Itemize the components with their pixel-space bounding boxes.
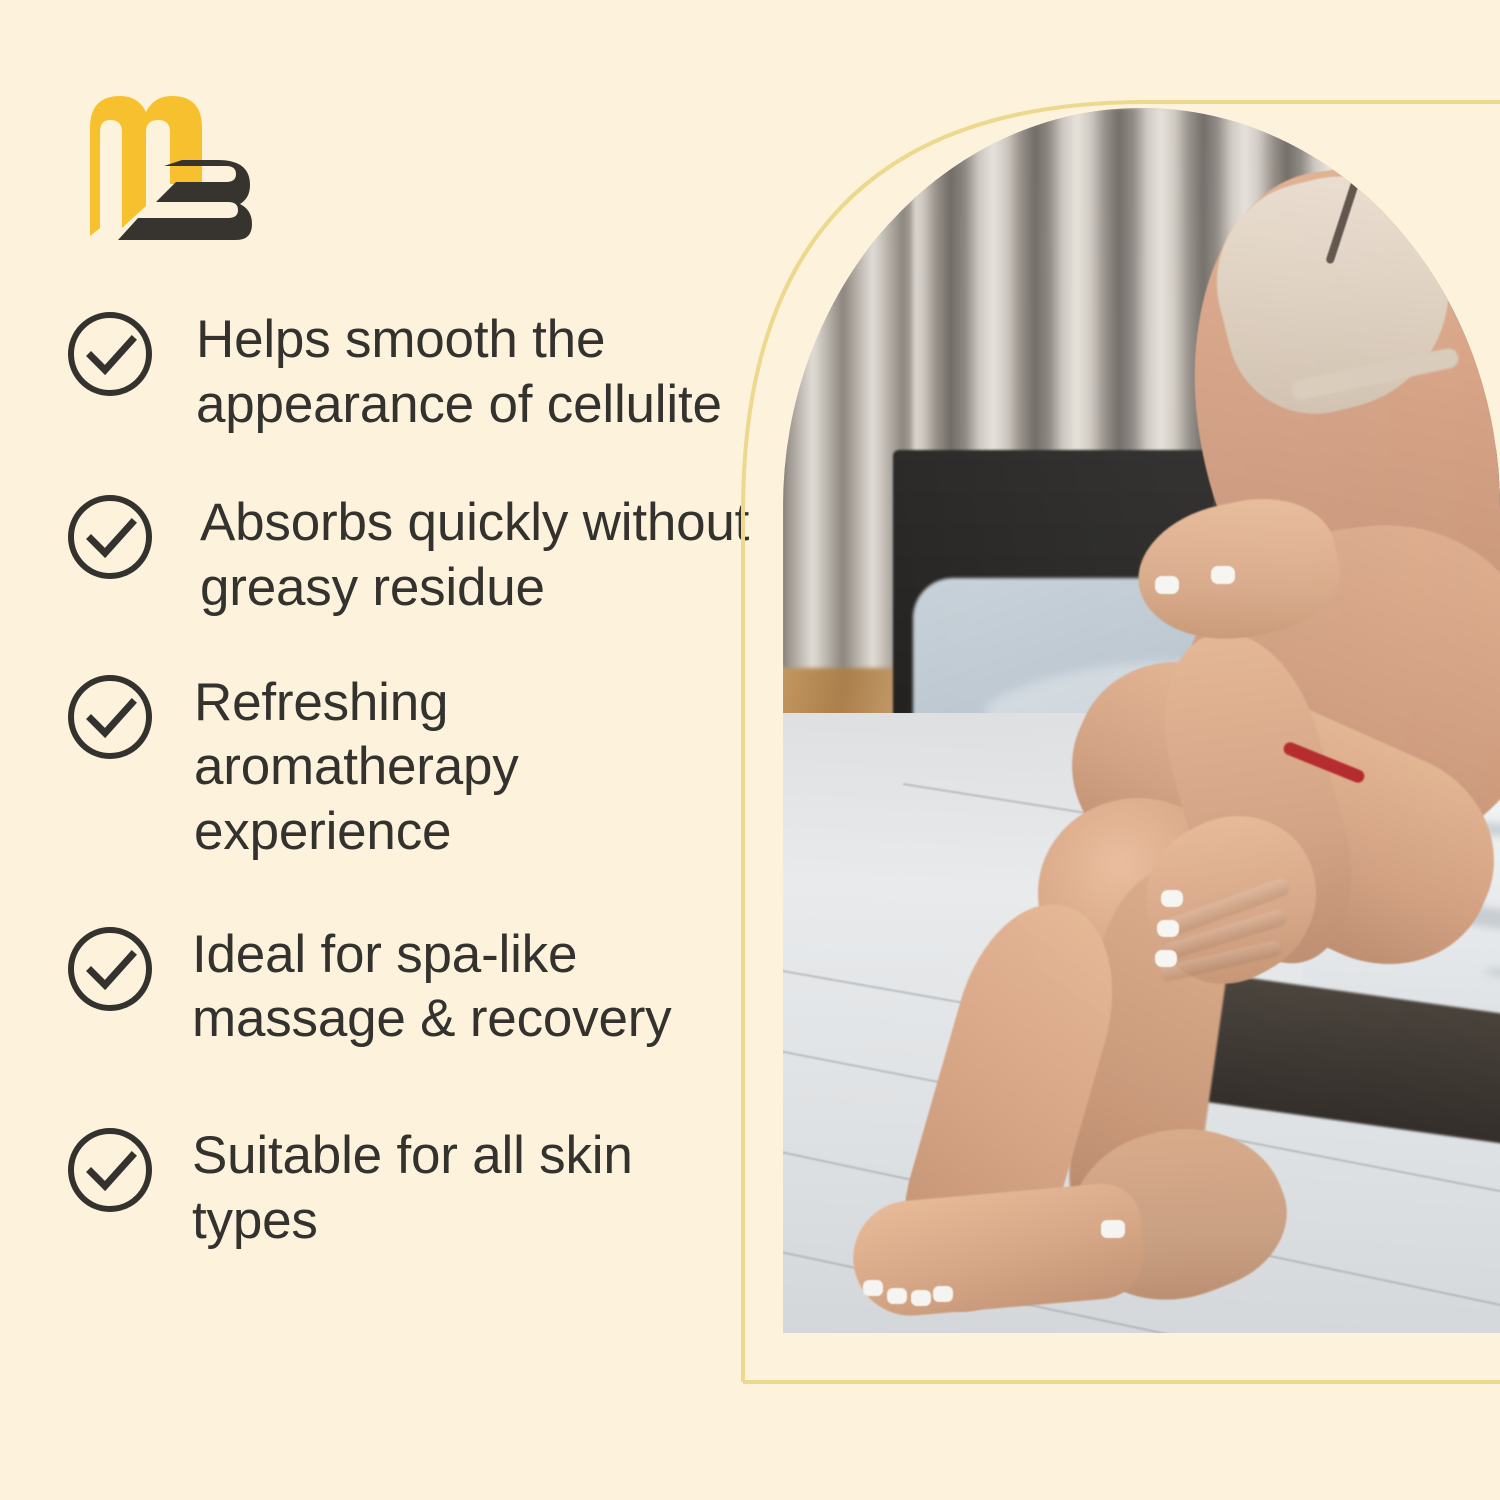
fingernail (1211, 566, 1235, 584)
fingernail (1157, 920, 1179, 937)
benefit-label: Refreshing aromatherapy experience (154, 669, 766, 865)
benefits-list: Helps smooth the appearance of cellulite… (66, 306, 766, 1253)
list-item: Refreshing aromatherapy experience (66, 669, 766, 865)
check-circle-icon (66, 1126, 154, 1214)
check-circle-icon (66, 310, 154, 398)
toenail (863, 1280, 883, 1296)
list-item: Suitable for all skin types (66, 1122, 766, 1253)
toenail (933, 1286, 953, 1302)
list-item: Helps smooth the appearance of cellulite (66, 306, 766, 437)
toenail (911, 1290, 931, 1306)
benefit-label: Absorbs quickly without greasy residue (154, 489, 766, 620)
check-circle-icon (66, 493, 154, 581)
fingernail (1155, 576, 1179, 594)
benefit-label: Ideal for spa-like massage & recovery (154, 921, 766, 1052)
toenail (1101, 1220, 1125, 1238)
check-circle-icon (66, 673, 154, 761)
benefit-label: Helps smooth the appearance of cellulite (154, 306, 766, 437)
photo-scene (783, 108, 1500, 1333)
list-item: Absorbs quickly without greasy residue (66, 489, 766, 620)
check-circle-icon (66, 925, 154, 1013)
brand-logo[interactable] (86, 88, 261, 248)
benefit-label: Suitable for all skin types (154, 1122, 766, 1253)
product-benefits-poster: Helps smooth the appearance of cellulite… (0, 0, 1500, 1500)
fingernail (1161, 890, 1183, 907)
toenail (887, 1288, 907, 1304)
list-item: Ideal for spa-like massage & recovery (66, 921, 766, 1052)
fingernail (1155, 950, 1177, 967)
lifestyle-photo (783, 108, 1500, 1333)
